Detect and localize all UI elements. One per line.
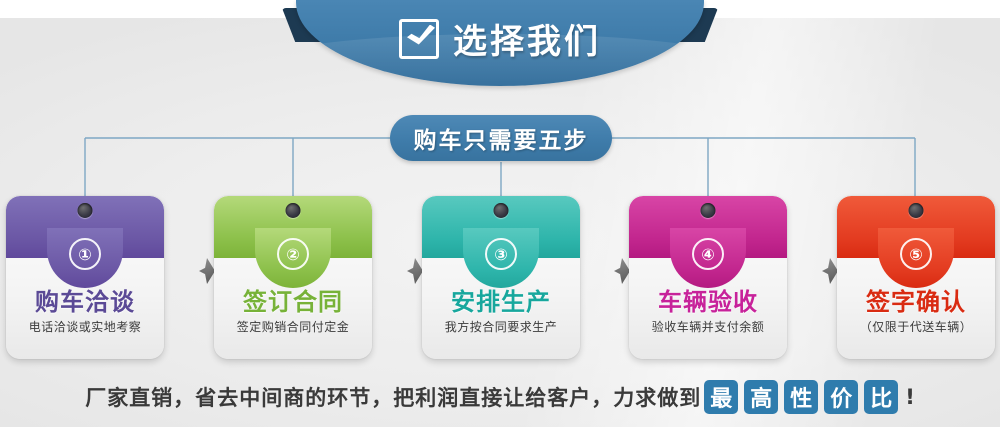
eyelet-icon-1 (78, 203, 93, 218)
page-title: 选择我们 (453, 14, 601, 63)
step-subtitle-5: （仅限于代送车辆） (837, 318, 995, 335)
footer-exclamation: ! (905, 385, 915, 409)
step-number-4: ④ (692, 238, 724, 270)
highlight-char-1: 最 (704, 380, 738, 414)
step-number-5: ⑤ (900, 238, 932, 270)
step-number-1: ① (69, 238, 101, 270)
section-title-label: 购车只需要五步 (414, 121, 589, 155)
step-subtitle-3: 我方按合同要求生产 (422, 318, 580, 335)
footer-text: 厂家直销，省去中间商的环节，把利润直接让给客户，力求做到 (85, 382, 701, 412)
header-ribbon: 选择我们 (282, 0, 718, 92)
highlight-char-2: 高 (744, 380, 778, 414)
arrow-icon-4 (822, 258, 838, 284)
step-subtitle-1: 电话洽谈或实地考察 (6, 318, 164, 335)
arrow-icon-2 (407, 258, 423, 284)
arrow-icon-3 (614, 258, 630, 284)
infographic-stage: 选择我们 购车只需要五步 ① 购车洽谈 电话洽谈或实地考察 (0, 0, 1000, 427)
step-subtitle-2: 签定购销合同付定金 (214, 318, 372, 335)
eyelet-icon-3 (494, 203, 509, 218)
step-title-4: 车辆验收 (629, 282, 787, 317)
step-title-5: 签字确认 (837, 282, 995, 317)
step-subtitle-4: 验收车辆并支付余额 (629, 318, 787, 335)
eyelet-icon-2 (286, 203, 301, 218)
step-number-2: ② (277, 238, 309, 270)
eyelet-icon-4 (701, 203, 716, 218)
footer-tagline: 厂家直销，省去中间商的环节，把利润直接让给客户，力求做到 最 高 性 价 比 ! (0, 372, 1000, 422)
step-card-3[interactable]: ③ 安排生产 我方按合同要求生产 (422, 196, 580, 359)
step-card-1[interactable]: ① 购车洽谈 电话洽谈或实地考察 (6, 196, 164, 359)
highlight-char-4: 价 (824, 380, 858, 414)
section-title-pill: 购车只需要五步 (390, 115, 612, 161)
step-title-3: 安排生产 (422, 282, 580, 317)
highlight-char-5: 比 (864, 380, 898, 414)
step-card-5[interactable]: ⑤ 签字确认 （仅限于代送车辆） (837, 196, 995, 359)
highlight-char-3: 性 (784, 380, 818, 414)
step-card-2[interactable]: ② 签订合同 签定购销合同付定金 (214, 196, 372, 359)
step-card-4[interactable]: ④ 车辆验收 验收车辆并支付余额 (629, 196, 787, 359)
checkbox-check-icon (399, 19, 439, 59)
step-number-3: ③ (485, 238, 517, 270)
step-title-1: 购车洽谈 (6, 282, 164, 317)
arrow-icon-1 (199, 258, 215, 284)
ribbon-body: 选择我们 (296, 0, 704, 86)
eyelet-icon-5 (909, 203, 924, 218)
steps-row: ① 购车洽谈 电话洽谈或实地考察 ② 签订合同 签定购销合同付定金 ③ 安排生产… (0, 196, 1000, 366)
step-title-2: 签订合同 (214, 282, 372, 317)
